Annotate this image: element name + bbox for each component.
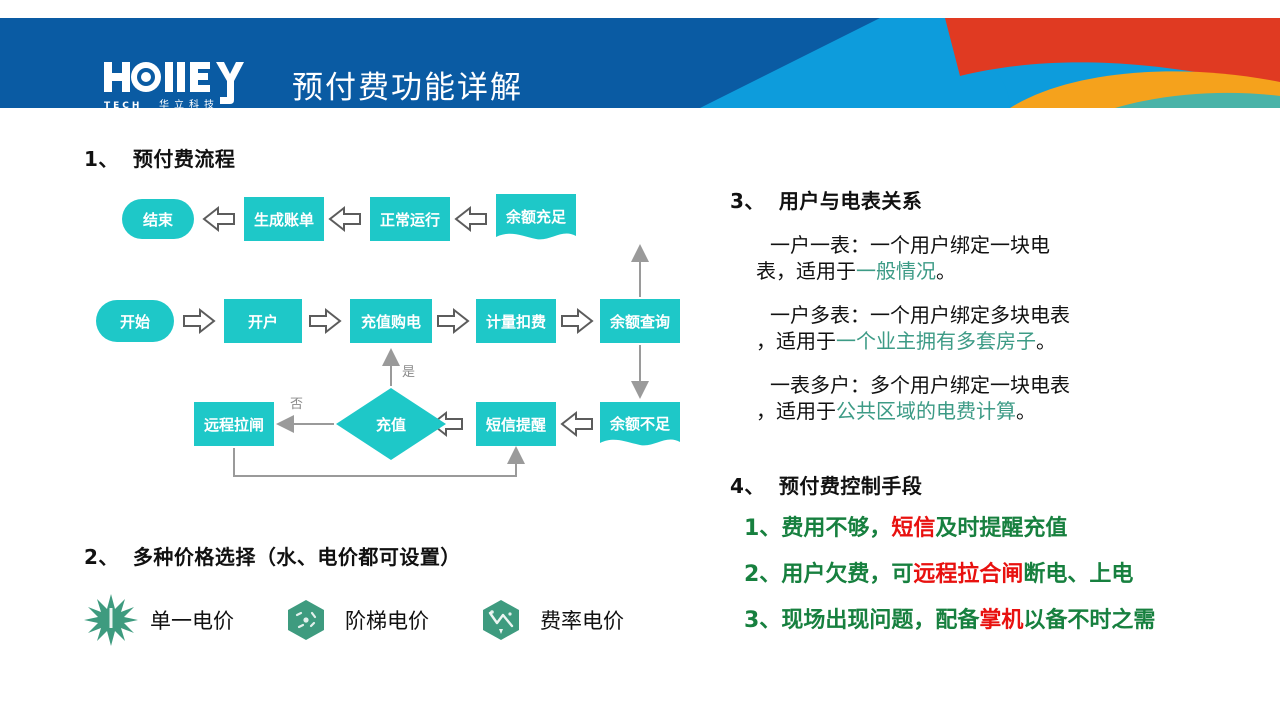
control-measure-1-text-b: 断电、上电 [1023, 562, 1133, 587]
section-4-number: 4、 [730, 474, 765, 498]
price-option-rate-label: 费率电价 [540, 605, 624, 635]
relation-item-1-line2: ，适用于一个业主拥有多套房子。 [756, 328, 1226, 354]
section-3-title: 用户与电表关系 [779, 189, 923, 213]
flow-arrow-meter-to-query [562, 310, 592, 332]
relation-item-1: 一户多表：一个用户绑定多块电表 ，适用于一个业主拥有多套房子。 [756, 302, 1226, 354]
relation-item-0-line2: 表，适用于一般情况。 [756, 258, 1226, 284]
flow-node-balance-enough-label: 余额充足 [505, 208, 567, 226]
flow-node-topup-decision-label: 充值 [376, 416, 406, 434]
relation-item-2-line1: 一表多户：多个用户绑定一块电表 [756, 372, 1226, 398]
relation-0-plain-b: 。 [936, 259, 956, 283]
control-measure-1-text-a: 用户欠费，可 [781, 562, 913, 587]
relation-1-plain-b: 。 [1036, 329, 1056, 353]
relation-2-plain-b: 。 [1016, 399, 1036, 423]
control-measure-2-number: 3、 [744, 608, 781, 633]
relation-2-highlight: 公共区域的电费计算 [836, 399, 1016, 423]
section-2-title: 多种价格选择（水、电价都可设置） [133, 545, 461, 569]
section-1-number: 1、 [84, 147, 119, 171]
prepaid-flowchart: 结束 生成账单 正常运行 余额充足 开始 [80, 180, 700, 490]
control-measures-list: 1、费用不够，短信及时提醒充值 2、用户欠费，可远程拉合闸断电、上电 3、现场出… [744, 518, 1244, 656]
control-measure-2-text-b: 以备不时之需 [1023, 608, 1155, 633]
flow-node-end-label: 结束 [143, 211, 174, 229]
section-4-title: 预付费控制手段 [779, 474, 923, 498]
company-logo: TECH 华立科技 [104, 60, 264, 108]
flow-node-metering-label: 计量扣费 [486, 313, 546, 331]
section-1-heading: 1、预付费流程 [84, 143, 235, 172]
control-measure-0: 1、费用不够，短信及时提醒充值 [744, 518, 1244, 540]
flow-node-normal-label: 正常运行 [380, 211, 440, 229]
svg-text:TECH: TECH [104, 101, 142, 108]
control-measure-2-text-a: 现场出现问题，配备 [781, 608, 979, 633]
flow-arrow-low-to-sms [562, 413, 592, 435]
flow-edge-label-no: 否 [290, 397, 303, 412]
hexagon-chart-icon [474, 593, 528, 647]
control-measure-1-number: 2、 [744, 562, 781, 587]
flow-line-cutoff-feedback [234, 448, 516, 476]
flow-node-sms-alert-label: 短信提醒 [486, 416, 546, 434]
flow-arrow-open-to-recharge [310, 310, 340, 332]
relation-item-1-line1: 一户多表：一个用户绑定多块电表 [756, 302, 1226, 328]
page-title: 预付费功能详解 [292, 62, 523, 107]
user-meter-relations-list: 一户一表：一个用户绑定一块电 表，适用于一般情况。 一户多表：一个用户绑定多块电… [756, 232, 1226, 442]
price-option-rate[interactable]: 费率电价 [474, 588, 624, 652]
relation-0-plain-a: 表，适用于 [756, 259, 856, 283]
flow-node-recharge-label: 充值购电 [361, 313, 421, 331]
section-2-heading: 2、多种价格选择（水、电价都可设置） [84, 541, 461, 570]
price-option-tiered[interactable]: 阶梯电价 [279, 588, 429, 652]
price-option-single[interactable]: 单一电价 [84, 588, 234, 652]
relation-item-2-line2: ，适用于公共区域的电费计算。 [756, 398, 1226, 424]
flow-arrow-normal-to-bill [330, 208, 360, 230]
section-1-title: 预付费流程 [133, 147, 236, 171]
relation-1-highlight: 一个业主拥有多套房子 [836, 329, 1036, 353]
flow-node-open-account-label: 开户 [248, 313, 278, 331]
section-4-heading: 4、预付费控制手段 [730, 470, 922, 499]
price-option-tiered-label: 阶梯电价 [345, 605, 429, 635]
flow-node-remote-cutoff-label: 远程拉闸 [204, 416, 264, 434]
hexagon-icon [279, 593, 333, 647]
relation-item-2: 一表多户：多个用户绑定一块电表 ，适用于公共区域的电费计算。 [756, 372, 1226, 424]
control-measure-0-text-b: 及时提醒充值 [935, 516, 1067, 541]
flow-node-balance-query-label: 余额查询 [609, 313, 670, 331]
relation-2-plain-a: ，适用于 [756, 399, 836, 423]
control-measure-0-highlight: 短信 [891, 516, 935, 541]
flow-arrow-enough-to-normal [456, 208, 486, 230]
slide-root: TECH 华立科技 预付费功能详解 1、预付费流程 2、多种价格选择（水、电价都… [0, 0, 1280, 720]
flow-arrow-recharge-to-meter [438, 310, 468, 332]
price-options-row: 单一电价 阶梯电价 费率电价 [84, 588, 704, 652]
flow-node-balance-low-label: 余额不足 [609, 415, 671, 433]
flowchart-svg: 结束 生成账单 正常运行 余额充足 开始 [80, 180, 700, 490]
section-3-heading: 3、用户与电表关系 [730, 185, 922, 214]
slide-header: TECH 华立科技 预付费功能详解 [0, 18, 1280, 108]
control-measure-2-highlight: 掌机 [979, 608, 1023, 633]
relation-item-0-line1: 一户一表：一个用户绑定一块电 [756, 232, 1226, 258]
holley-logo-mark: TECH 华立科技 [104, 60, 264, 108]
flow-node-start-label: 开始 [120, 313, 150, 331]
control-measure-1-highlight: 远程拉合闸 [913, 562, 1023, 587]
flow-arrow-start-to-open [184, 310, 214, 332]
starburst-icon [84, 593, 138, 647]
control-measure-1: 2、用户欠费，可远程拉合闸断电、上电 [744, 564, 1244, 586]
flow-arrow-bill-to-end [204, 208, 234, 230]
flow-node-bill-label: 生成账单 [254, 211, 314, 229]
svg-text:华立科技: 华立科技 [159, 98, 219, 108]
control-measure-0-number: 1、 [744, 516, 781, 541]
control-measure-0-text-a: 费用不够， [781, 516, 891, 541]
control-measure-2: 3、现场出现问题，配备掌机以备不时之需 [744, 610, 1244, 632]
relation-0-highlight: 一般情况 [856, 259, 936, 283]
price-option-single-label: 单一电价 [150, 605, 234, 635]
relation-item-0: 一户一表：一个用户绑定一块电 表，适用于一般情况。 [756, 232, 1226, 284]
flow-edge-label-yes: 是 [402, 365, 415, 380]
section-2-number: 2、 [84, 545, 119, 569]
section-3-number: 3、 [730, 189, 765, 213]
relation-1-plain-a: ，适用于 [756, 329, 836, 353]
